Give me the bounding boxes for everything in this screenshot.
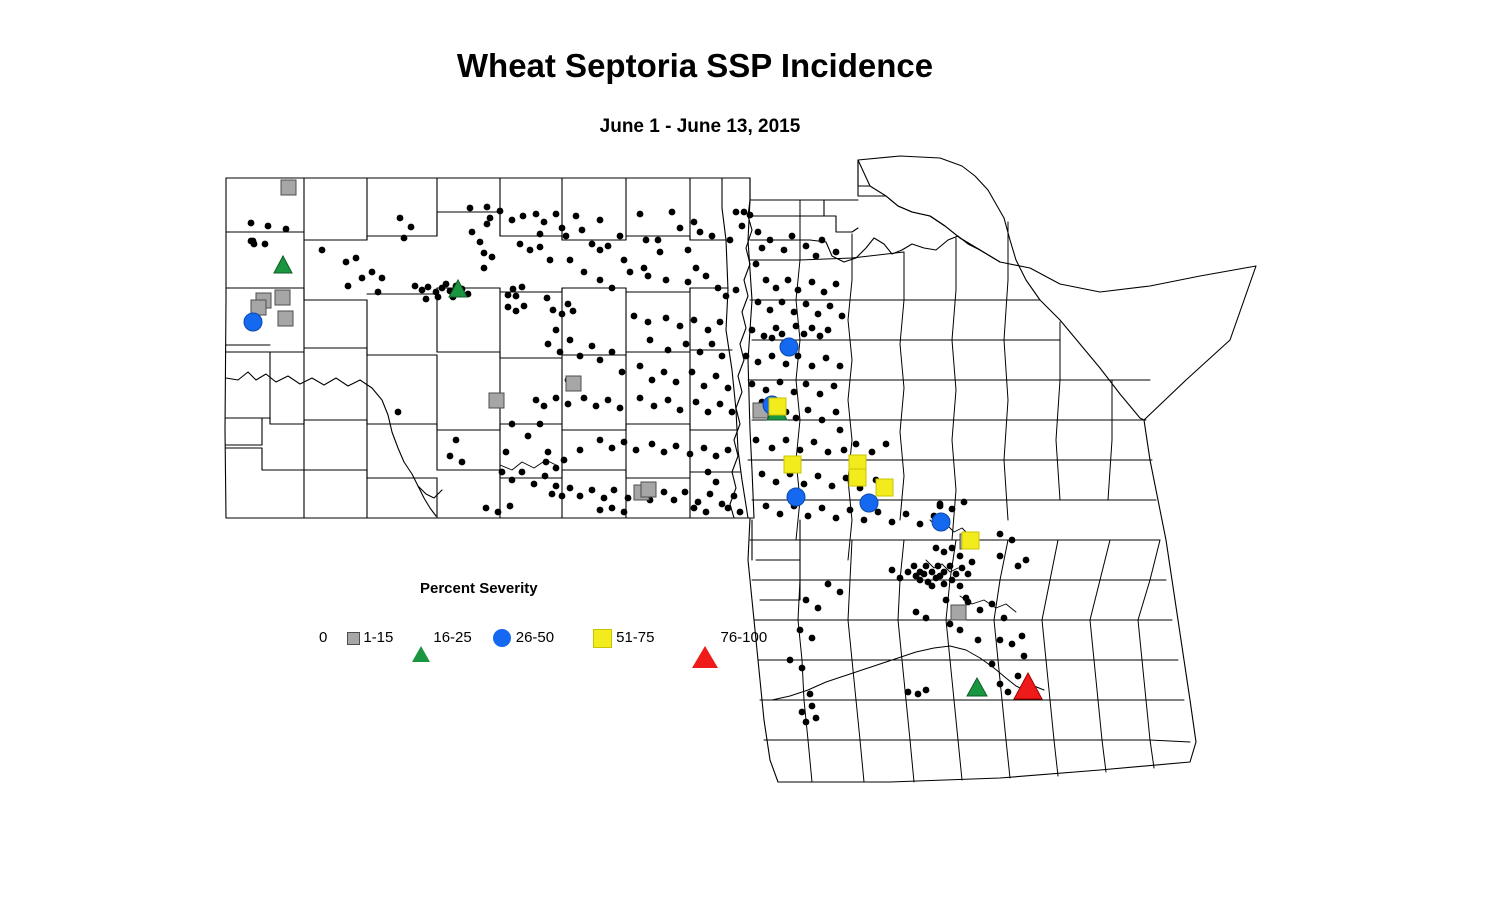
legend-label-16-25: 16-25: [433, 626, 471, 650]
legend-title: Percent Severity: [420, 580, 538, 597]
legend-item-16-25[interactable]: 16-25: [409, 626, 471, 650]
red-triangle-icon: [689, 629, 721, 647]
legend-item-1-15[interactable]: 1-15: [343, 626, 393, 650]
legend-label-51-75: 51-75: [616, 626, 654, 650]
gray-square-icon: [343, 632, 363, 645]
legend: 0 1-15 16-25 26-50 51-75: [305, 626, 767, 650]
legend-item-0[interactable]: 0: [305, 626, 327, 650]
legend-label-1-15: 1-15: [363, 626, 393, 650]
county-boundaries: [225, 156, 1256, 782]
yellow-square-icon: [588, 629, 616, 648]
legend-label-26-50: 26-50: [516, 626, 554, 650]
map-canvas: [0, 0, 1503, 900]
green-triangle-icon: [409, 629, 433, 647]
map-page: Wheat Septoria SSP Incidence June 1 - Ju…: [0, 0, 1503, 900]
markers-severity-1-15: [251, 180, 975, 620]
legend-item-76-100[interactable]: 76-100: [689, 626, 768, 650]
legend-item-26-50[interactable]: 26-50: [488, 626, 554, 650]
map-svg: [0, 0, 1503, 900]
legend-label-0: 0: [319, 626, 327, 650]
blue-circle-icon: [488, 629, 516, 647]
markers-severity-26-50: [244, 313, 950, 531]
legend-label-76-100: 76-100: [721, 626, 768, 650]
legend-item-51-75[interactable]: 51-75: [588, 626, 654, 650]
